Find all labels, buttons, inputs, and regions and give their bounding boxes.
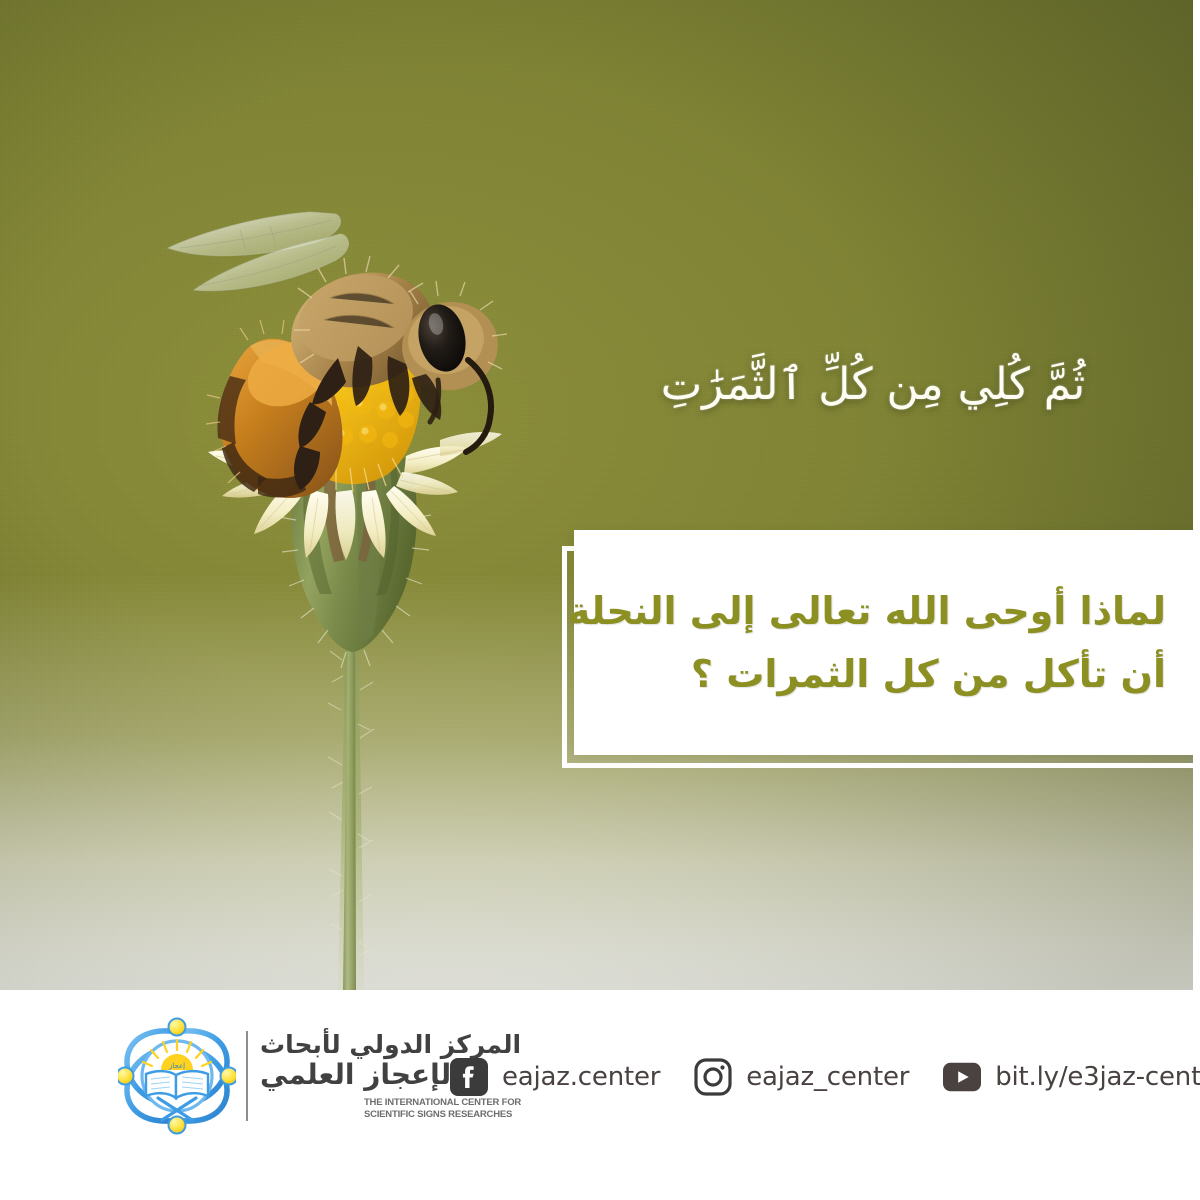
- facebook-handle[interactable]: eajaz.center: [502, 1062, 660, 1092]
- org-name-english-line2: SCIENTIFIC SIGNS RESEARCHES: [364, 1109, 521, 1121]
- svg-text:إعجاز: إعجاز: [168, 1062, 185, 1070]
- photo-area: ثُمَّ كُلِي مِن كُلِّ ٱلثَّمَرَٰتِ لماذا…: [0, 0, 1193, 990]
- poster-root: ثُمَّ كُلِي مِن كُلِّ ٱلثَّمَرَٰتِ لماذا…: [0, 0, 1200, 1200]
- org-name-arabic-line2: الإعجاز العلمي: [260, 1059, 461, 1090]
- youtube-handle[interactable]: bit.ly/e3jaz-center: [995, 1062, 1200, 1092]
- question-card: لماذا أوحى الله تعالى إلى النحلة أن تأكل…: [574, 530, 1193, 755]
- question-line-1: لماذا أوحى الله تعالى إلى النحلة: [568, 580, 1166, 643]
- org-name-english-line1: THE INTERNATIONAL CENTER FOR: [364, 1097, 521, 1109]
- quran-verse: ثُمَّ كُلِي مِن كُلِّ ٱلثَّمَرَٰتِ: [633, 352, 1113, 418]
- youtube-icon[interactable]: [943, 1058, 981, 1096]
- flower-stem: [328, 620, 374, 990]
- org-name-english: THE INTERNATIONAL CENTER FOR SCIENTIFIC …: [364, 1097, 521, 1121]
- social-link-instagram[interactable]: eajaz_center: [694, 1058, 909, 1096]
- instagram-handle[interactable]: eajaz_center: [746, 1062, 909, 1092]
- atom-book-logo-icon: إعجاز: [118, 1012, 236, 1140]
- bee-on-flower-photo: [150, 190, 570, 990]
- instagram-icon[interactable]: [694, 1058, 732, 1096]
- social-link-youtube[interactable]: bit.ly/e3jaz-center: [943, 1058, 1200, 1096]
- social-link-facebook[interactable]: eajaz.center: [450, 1058, 660, 1096]
- bee-wings: [168, 212, 349, 291]
- facebook-icon[interactable]: [450, 1058, 488, 1096]
- footer-bar: إعجاز: [0, 990, 1200, 1200]
- social-links: eajaz.center eajaz_center: [450, 1058, 1200, 1096]
- org-name-arabic-line1: المركز الدولي لأبحاث: [260, 1031, 521, 1059]
- question-line-2: أن تأكل من كل الثمرات ؟: [691, 643, 1166, 706]
